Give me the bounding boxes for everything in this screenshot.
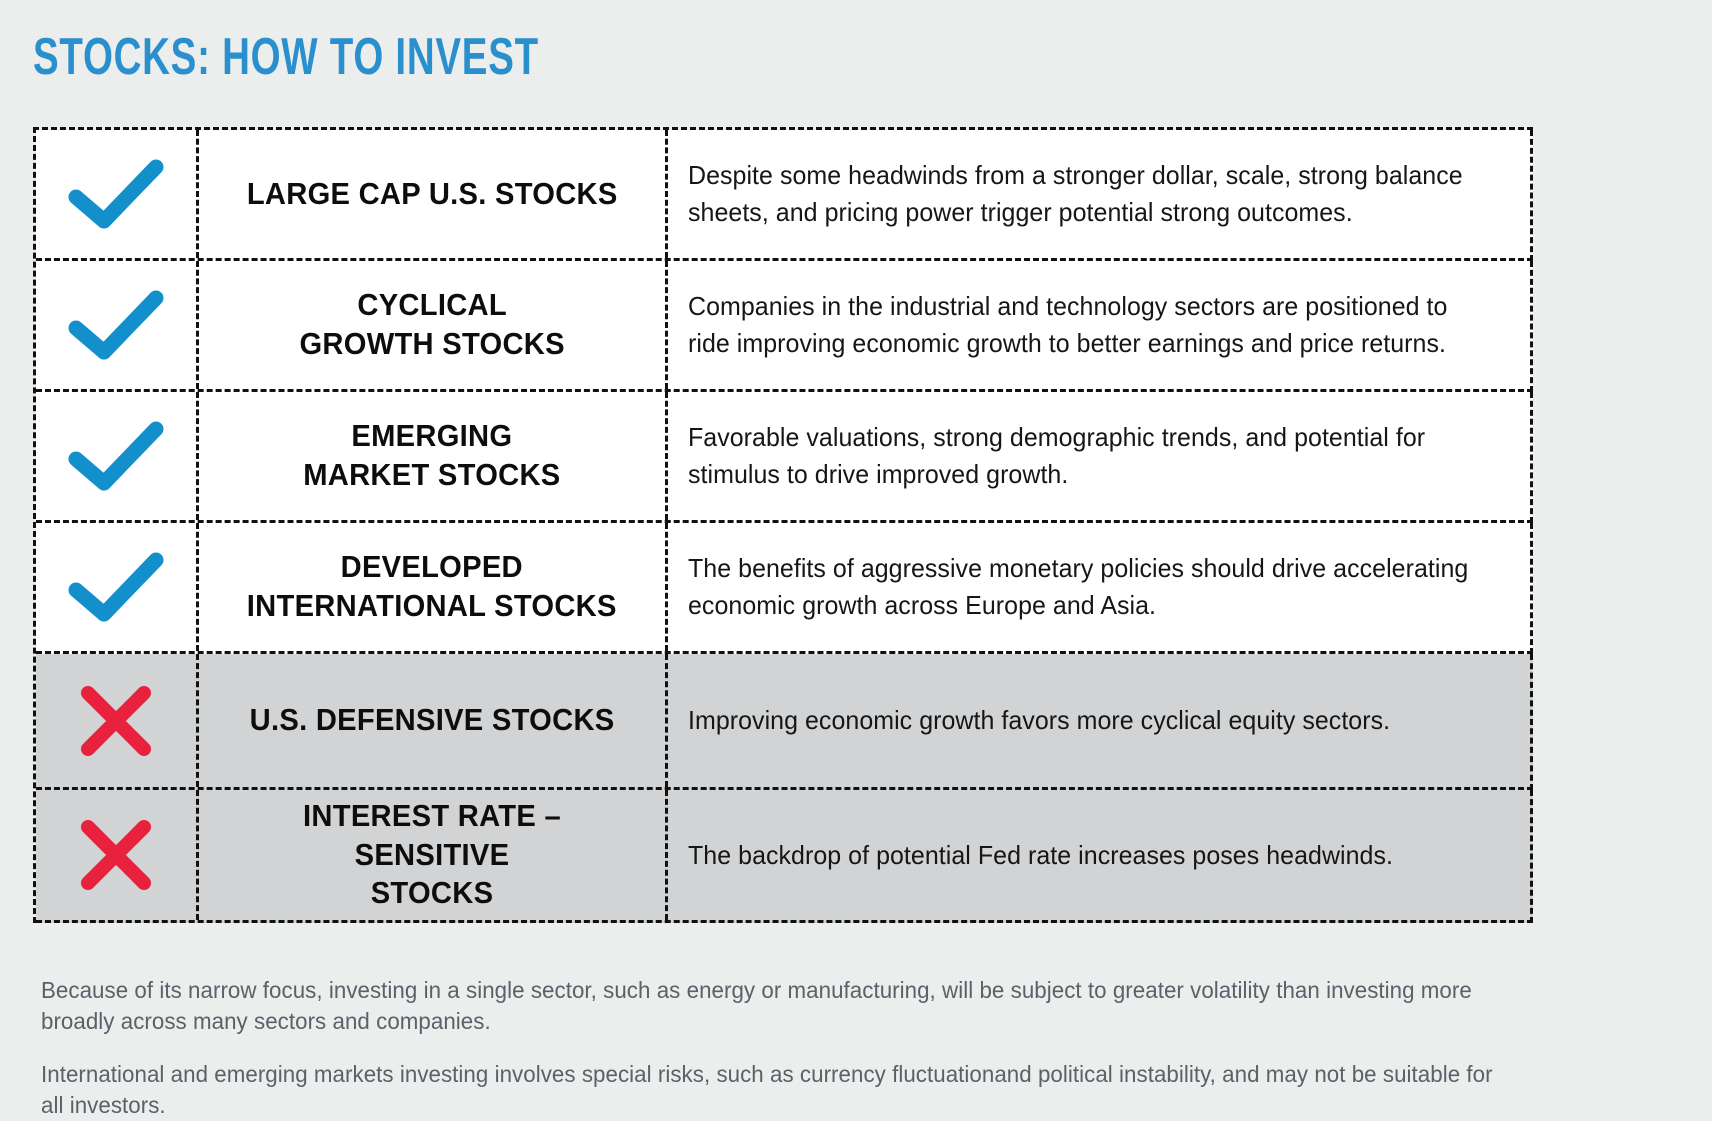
table-row: CYCLICALGROWTH STOCKS Companies in the i…: [36, 261, 1533, 392]
check-icon: [68, 288, 164, 362]
table-row: EMERGINGMARKET STOCKS Favorable valuatio…: [36, 392, 1533, 523]
row-name-label: EMERGINGMARKET STOCKS: [303, 417, 560, 495]
row-mark-cell: [36, 523, 199, 651]
row-name-cell: DEVELOPEDINTERNATIONAL STOCKS: [199, 523, 668, 651]
row-description-cell: Favorable valuations, strong demographic…: [668, 392, 1530, 520]
table-row: LARGE CAP U.S. STOCKS Despite some headw…: [36, 130, 1533, 261]
row-name-cell: EMERGINGMARKET STOCKS: [199, 392, 668, 520]
row-name-cell: U.S. DEFENSIVE STOCKS: [199, 654, 668, 787]
check-icon: [68, 419, 164, 493]
row-name-cell: INTEREST RATE – SENSITIVESTOCKS: [199, 790, 668, 920]
row-description-cell: Improving economic growth favors more cy…: [668, 654, 1530, 787]
row-name-cell: LARGE CAP U.S. STOCKS: [199, 130, 668, 258]
page-title: STOCKS: HOW TO INVEST: [33, 30, 539, 85]
row-description-cell: The backdrop of potential Fed rate incre…: [668, 790, 1530, 920]
row-description-text: Favorable valuations, strong demographic…: [688, 419, 1479, 493]
row-mark-cell: [36, 790, 199, 920]
row-description-text: Companies in the industrial and technolo…: [688, 288, 1479, 362]
row-name-label: U.S. DEFENSIVE STOCKS: [250, 701, 615, 740]
row-description-cell: The benefits of aggressive monetary poli…: [668, 523, 1530, 651]
recommendation-table: LARGE CAP U.S. STOCKS Despite some headw…: [33, 127, 1533, 923]
row-description-text: Improving economic growth favors more cy…: [688, 702, 1390, 739]
row-mark-cell: [36, 392, 199, 520]
table-row: INTEREST RATE – SENSITIVESTOCKS The back…: [36, 790, 1533, 923]
footnotes: Because of its narrow focus, investing i…: [41, 975, 1541, 1121]
row-description-text: Despite some headwinds from a stronger d…: [688, 157, 1479, 231]
row-name-label: CYCLICALGROWTH STOCKS: [299, 286, 564, 364]
cross-icon: [77, 682, 155, 760]
row-name-label: INTEREST RATE – SENSITIVESTOCKS: [226, 797, 638, 913]
row-description-cell: Despite some headwinds from a stronger d…: [668, 130, 1530, 258]
row-mark-cell: [36, 654, 199, 787]
cross-icon: [77, 816, 155, 894]
table-row: U.S. DEFENSIVE STOCKS Improving economic…: [36, 654, 1533, 790]
footnote-sector-risk: Because of its narrow focus, investing i…: [41, 975, 1496, 1038]
row-mark-cell: [36, 130, 199, 258]
row-name-cell: CYCLICALGROWTH STOCKS: [199, 261, 668, 389]
row-mark-cell: [36, 261, 199, 389]
check-icon: [68, 157, 164, 231]
table-row: DEVELOPEDINTERNATIONAL STOCKS The benefi…: [36, 523, 1533, 654]
row-name-label: LARGE CAP U.S. STOCKS: [247, 175, 618, 214]
row-description-text: The benefits of aggressive monetary poli…: [688, 550, 1479, 624]
row-name-label: DEVELOPEDINTERNATIONAL STOCKS: [247, 548, 617, 626]
row-description-text: The backdrop of potential Fed rate incre…: [688, 837, 1393, 874]
footnote-international-risk: International and emerging markets inves…: [41, 1059, 1496, 1121]
row-description-cell: Companies in the industrial and technolo…: [668, 261, 1530, 389]
infographic-page: STOCKS: HOW TO INVEST LARGE CAP U.S. STO…: [0, 0, 1712, 1120]
check-icon: [68, 550, 164, 624]
